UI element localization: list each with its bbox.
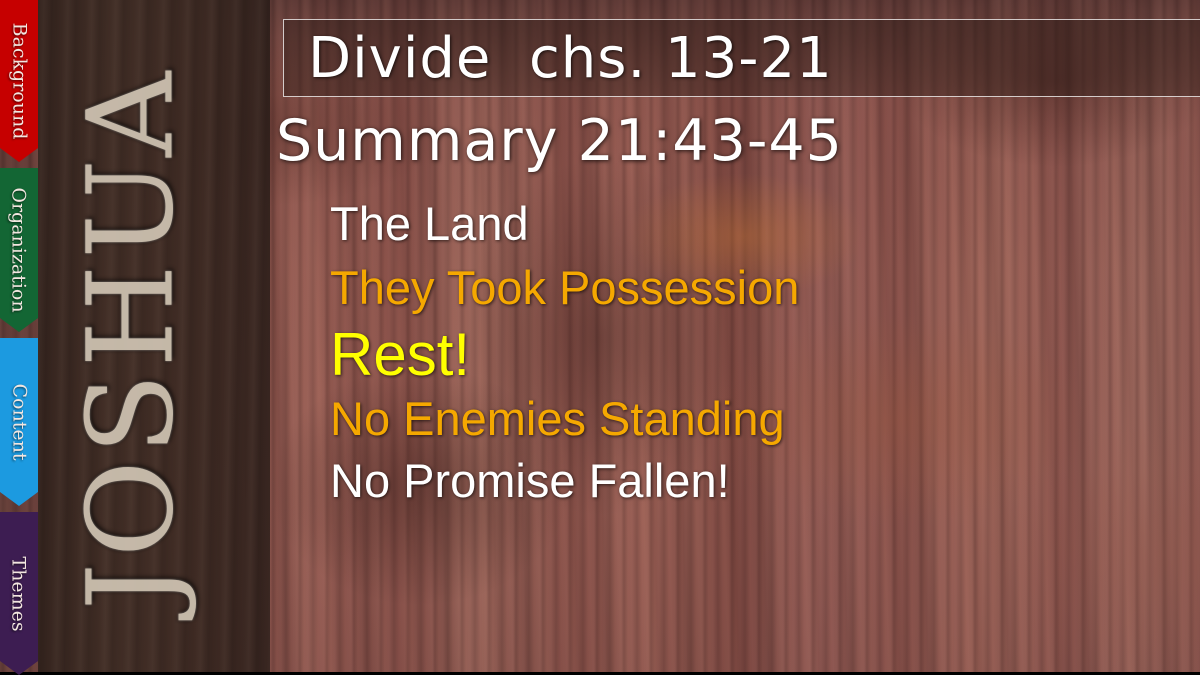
presentation-slide: JOSHUA Background Organization Content T…	[0, 0, 1200, 675]
sidebar-item-label: Background	[8, 23, 30, 140]
sidebar-item-content[interactable]: Content	[0, 338, 38, 506]
list-item: They Took Possession	[330, 264, 1170, 311]
left-dark-panel	[38, 0, 270, 675]
page-title: Divide chs. 13-21	[308, 26, 833, 91]
sidebar-item-label: Content	[8, 384, 30, 461]
left-panel-texture	[38, 0, 270, 675]
sidebar-item-background[interactable]: Background	[0, 0, 38, 162]
list-item: No Promise Fallen!	[330, 457, 1170, 504]
slide-body-list: The Land They Took Possession Rest! No E…	[330, 200, 1170, 504]
list-item: No Enemies Standing	[330, 395, 1170, 442]
sidebar-item-label: Organization	[8, 187, 30, 312]
slide-title-box: Divide chs. 13-21	[283, 19, 1200, 97]
list-item: The Land	[330, 200, 1170, 247]
sidebar-item-organization[interactable]: Organization	[0, 168, 38, 332]
sidebar-item-label: Themes	[8, 556, 30, 631]
slide-subtitle: Summary 21:43-45	[276, 108, 843, 174]
sidebar-item-themes[interactable]: Themes	[0, 512, 38, 675]
sidebar-tabs: Background Organization Content Themes	[0, 0, 40, 675]
list-item: Rest!	[330, 325, 1170, 385]
